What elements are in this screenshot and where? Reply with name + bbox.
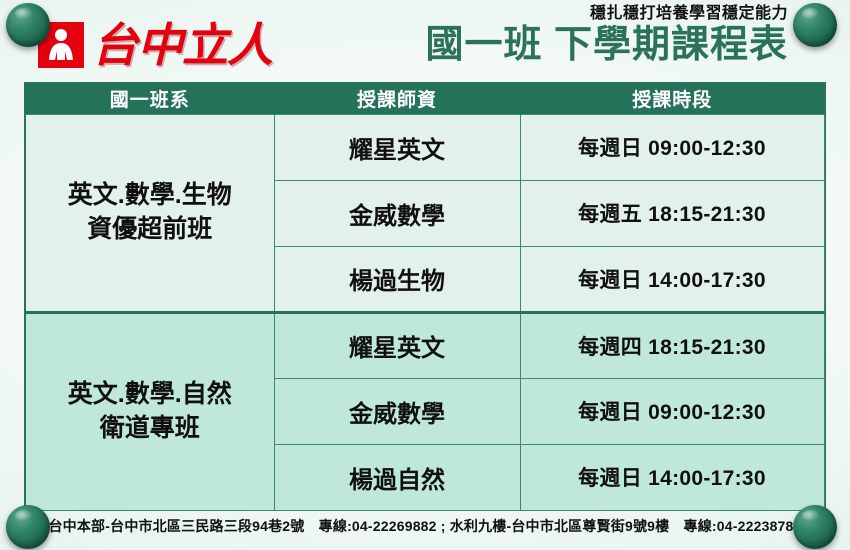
- table-header-row: 國一班系 授課師資 授課時段: [26, 84, 824, 114]
- decorative-sphere-top-right: [793, 3, 837, 47]
- table-row: 英文.數學.自然 衛道專班 耀星英文 每週四 18:15-21:30: [26, 312, 824, 378]
- schedule-table-container: 國一班系 授課師資 授課時段 英文.數學.生物 資優超前班 耀星英文 每週日 0…: [24, 82, 826, 510]
- brand-logo: 台中立人: [38, 22, 272, 68]
- poster-header: 台中立人 穩扎穩打培養學習穩定能力 國一班 下學期課程表: [0, 0, 850, 82]
- table-header: 國一班系 授課師資 授課時段: [26, 84, 824, 114]
- decorative-sphere-bottom-left: [6, 505, 50, 549]
- time-slot-cell: 每週四 18:15-21:30: [520, 312, 824, 378]
- teacher-cell: 楊過自然: [274, 444, 520, 510]
- teacher-cell: 耀星英文: [274, 114, 520, 180]
- brand-logo-text: 台中立人: [92, 22, 272, 68]
- group-cell-2: 英文.數學.自然 衛道專班: [26, 312, 274, 510]
- group-name-line1: 英文.數學.自然: [68, 380, 232, 408]
- teacher-cell: 楊過生物: [274, 246, 520, 312]
- table-body: 英文.數學.生物 資優超前班 耀星英文 每週日 09:00-12:30 金威數學…: [26, 114, 824, 510]
- poster-subtitle: 穩扎穩打培養學習穩定能力: [425, 4, 788, 24]
- teacher-cell: 耀星英文: [274, 312, 520, 378]
- column-header-teacher: 授課師資: [274, 84, 520, 114]
- time-slot-cell: 每週日 14:00-17:30: [520, 444, 824, 510]
- footer-contact-info: 台中本部-台中市北區三民路三段94巷2號 專線:04-22269882 ; 水利…: [0, 516, 850, 536]
- time-slot-cell: 每週日 09:00-12:30: [520, 378, 824, 444]
- group-name-line1: 英文.數學.生物: [68, 181, 232, 209]
- schedule-table: 國一班系 授課師資 授課時段 英文.數學.生物 資優超前班 耀星英文 每週日 0…: [26, 84, 825, 511]
- table-row: 英文.數學.生物 資優超前班 耀星英文 每週日 09:00-12:30: [26, 114, 824, 180]
- group-name-line2: 資優超前班: [26, 213, 274, 247]
- group-cell-1: 英文.數學.生物 資優超前班: [26, 114, 274, 312]
- title-block: 穩扎穩打培養學習穩定能力 國一班 下學期課程表: [425, 4, 788, 67]
- decorative-sphere-bottom-right: [793, 505, 837, 549]
- decorative-sphere-top-left: [6, 3, 50, 47]
- time-slot-cell: 每週日 09:00-12:30: [520, 114, 824, 180]
- page-title: 國一班 下學期課程表: [425, 25, 788, 67]
- teacher-cell: 金威數學: [274, 180, 520, 246]
- teacher-cell: 金威數學: [274, 378, 520, 444]
- column-header-class: 國一班系: [26, 84, 274, 114]
- poster-root: 台中立人 穩扎穩打培養學習穩定能力 國一班 下學期課程表 國一班系 授課師資 授…: [0, 0, 850, 550]
- time-slot-cell: 每週五 18:15-21:30: [520, 180, 824, 246]
- group-name-line2: 衛道專班: [26, 412, 274, 446]
- column-header-time: 授課時段: [520, 84, 824, 114]
- time-slot-cell: 每週日 14:00-17:30: [520, 246, 824, 312]
